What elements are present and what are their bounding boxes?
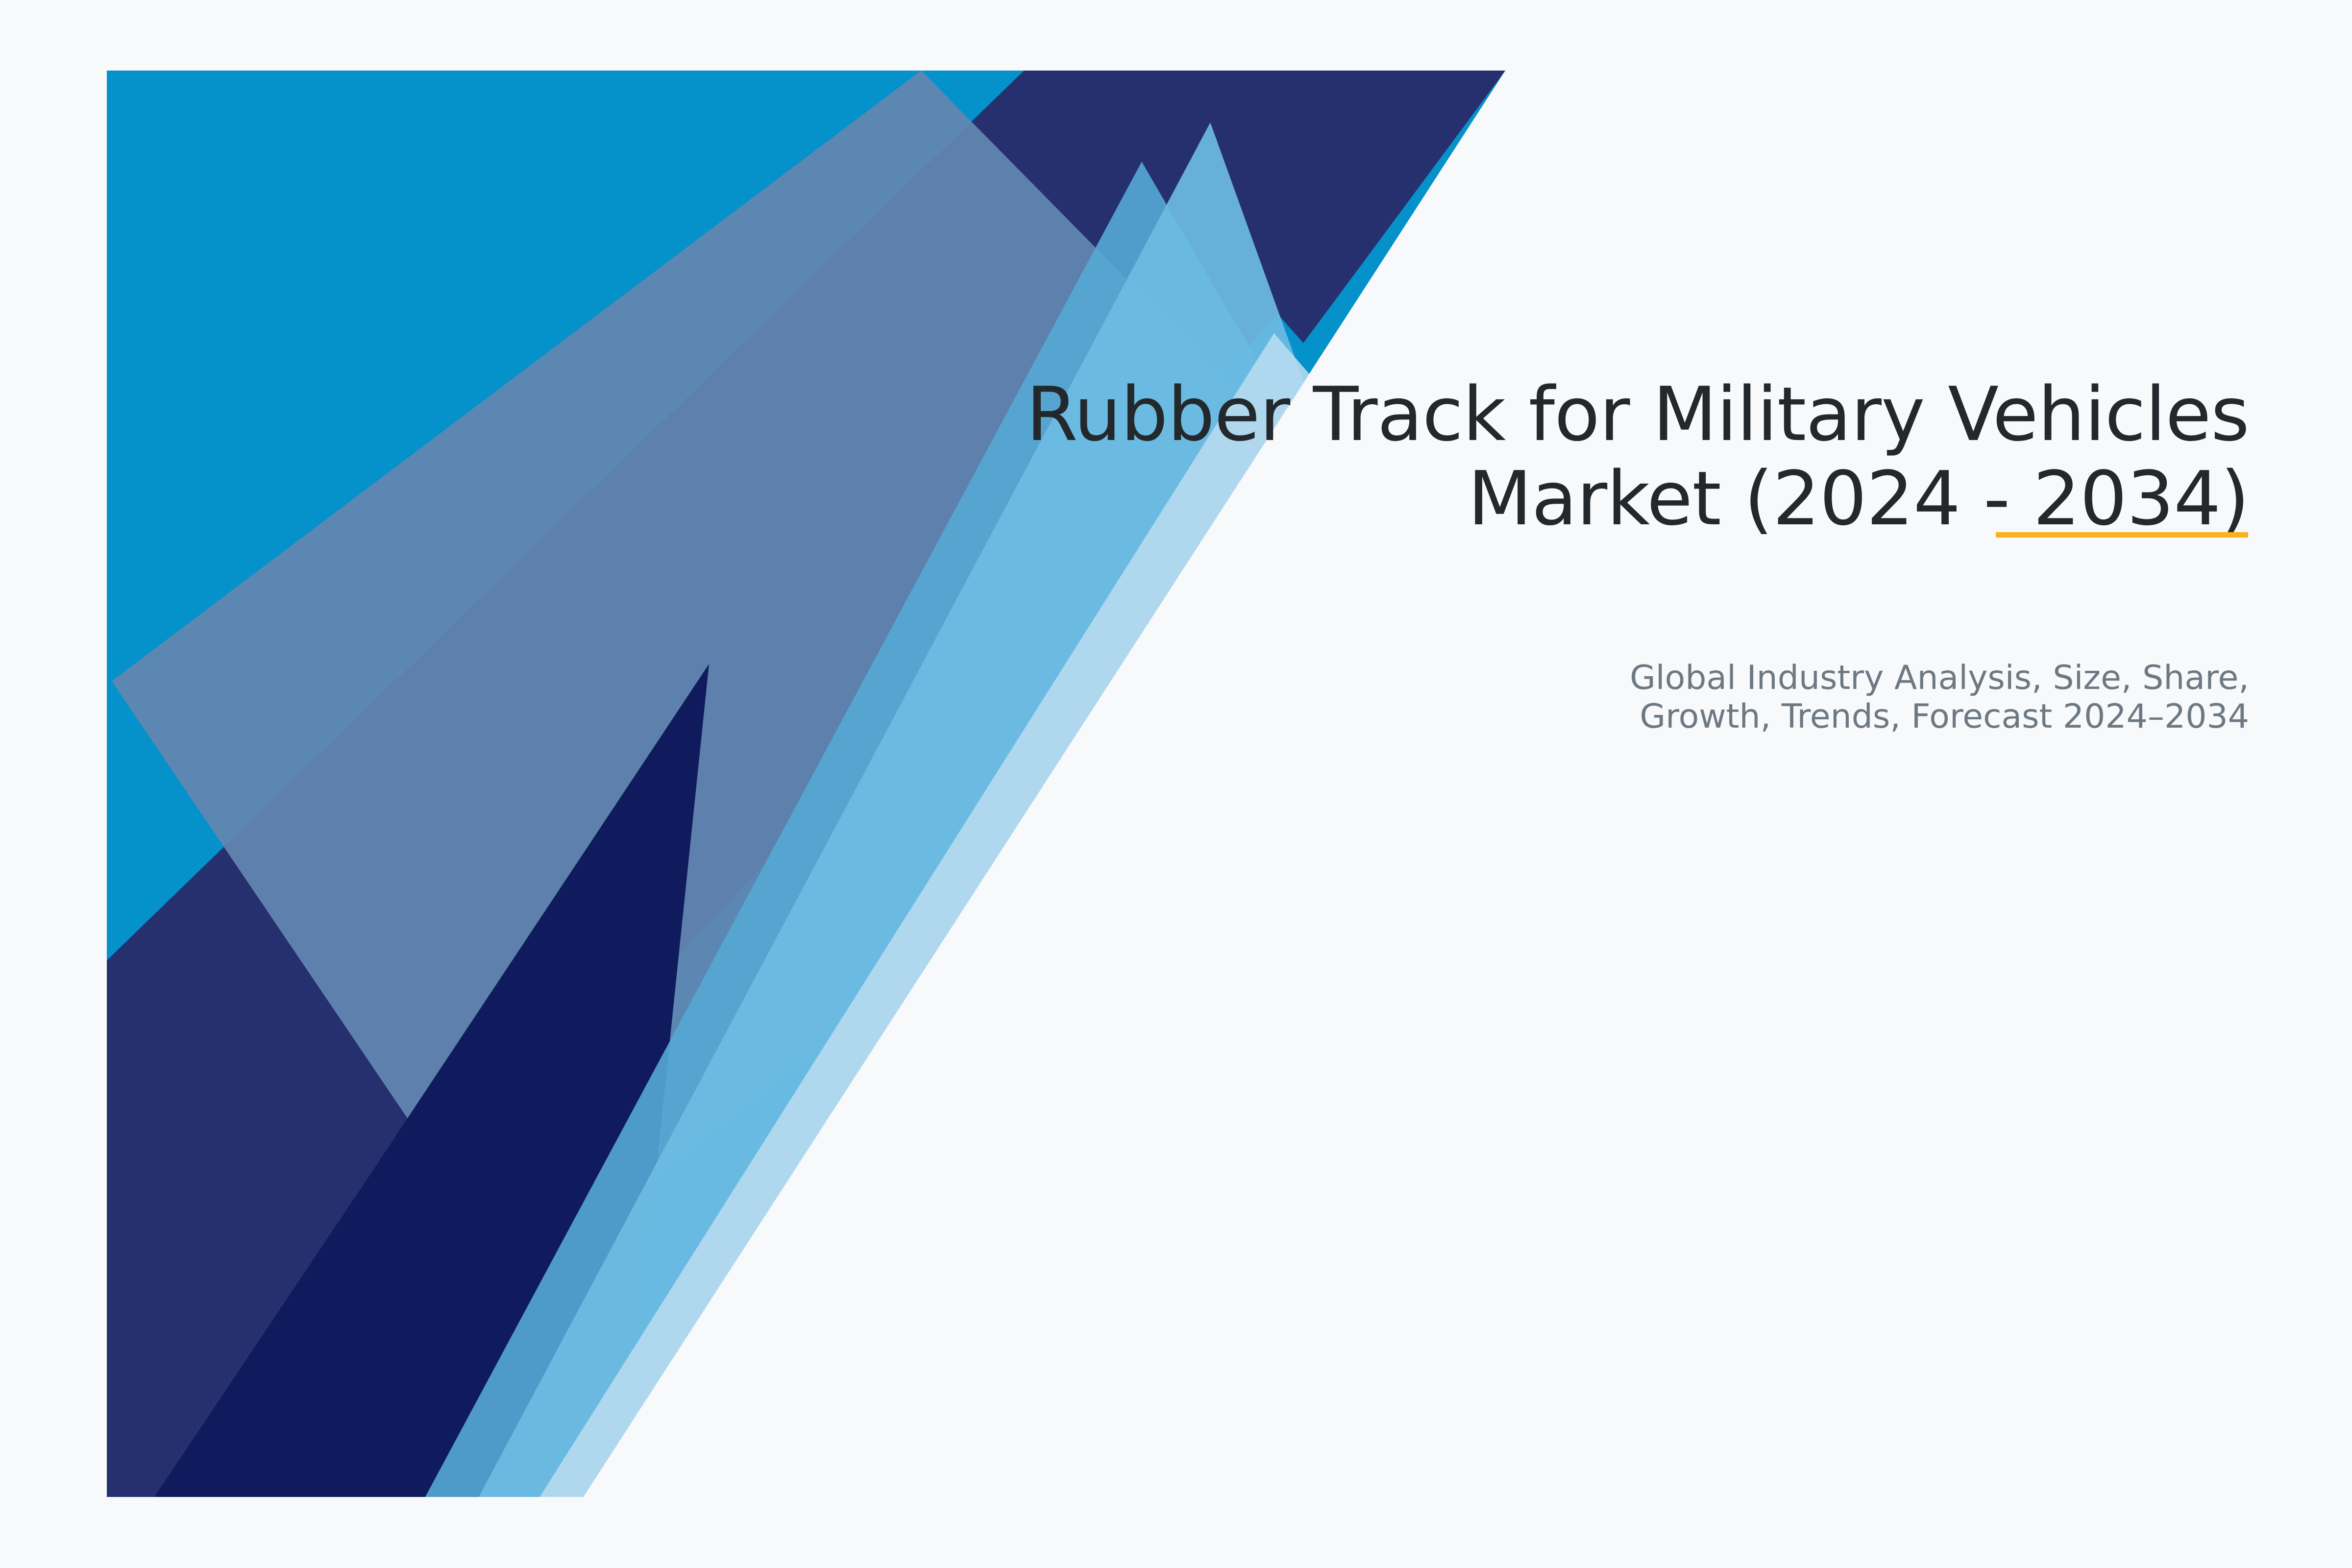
title-accent-underline bbox=[1996, 532, 2248, 538]
page-title: Rubber Track for Military Vehicles Marke… bbox=[931, 372, 2249, 541]
abstract-polygon-artwork bbox=[0, 0, 2352, 1568]
page-subtitle: Global Industry Analysis, Size, Share, G… bbox=[1323, 659, 2249, 736]
cover-text-block: Rubber Track for Military Vehicles Marke… bbox=[931, 372, 2249, 541]
report-cover-page: Rubber Track for Military Vehicles Marke… bbox=[0, 0, 2352, 1568]
